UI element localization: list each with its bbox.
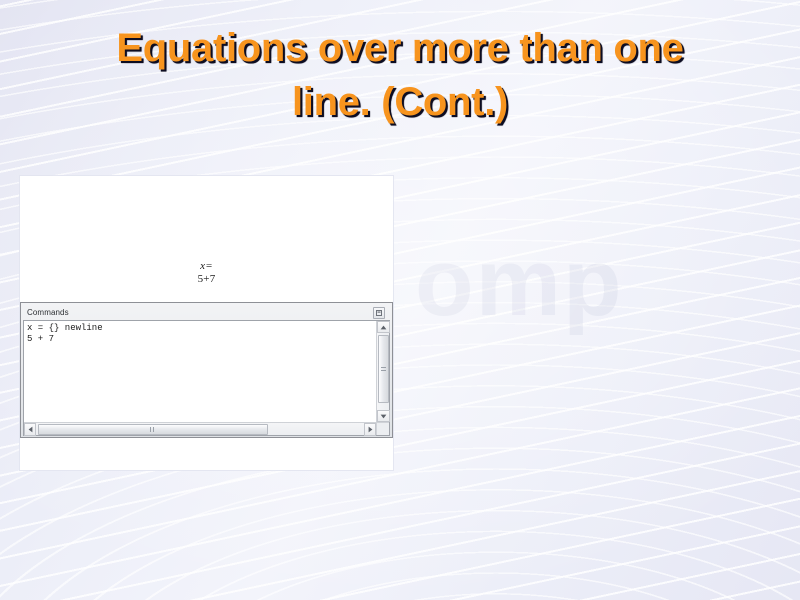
triangle-down-icon[interactable] [377, 410, 390, 422]
vertical-scrollbar-thumb[interactable] [378, 335, 389, 403]
page-title: Equations over more than one line. (Cont… [40, 22, 760, 129]
grip-lines-icon [381, 367, 386, 372]
embedded-screenshot: x= 5+7 Commands x = {} newline 5 + 7 [20, 176, 393, 470]
undock-icon[interactable] [373, 307, 385, 319]
horizontal-scrollbar[interactable] [24, 422, 376, 435]
triangle-left-icon[interactable] [24, 423, 36, 436]
triangle-right-icon[interactable] [364, 423, 376, 436]
formula-preview-line1: x= [20, 260, 393, 273]
commands-text-area[interactable]: x = {} newline 5 + 7 [23, 320, 390, 436]
commands-panel-titlebar: Commands [23, 305, 390, 320]
commands-input-text: x = {} newline 5 + 7 [27, 323, 375, 345]
formula-preview-line2: 5+7 [20, 273, 393, 286]
commands-panel: Commands x = {} newline 5 + 7 [20, 302, 393, 438]
formula-preview: x= 5+7 [20, 260, 393, 286]
slide: omp Equations over more than one line. (… [0, 0, 800, 600]
scrollbar-corner [376, 422, 389, 435]
background-watermark: omp [415, 228, 765, 338]
commands-panel-title: Commands [25, 308, 69, 317]
triangle-up-icon[interactable] [377, 321, 390, 333]
horizontal-scrollbar-thumb[interactable] [38, 424, 268, 435]
grip-lines-icon [150, 427, 155, 432]
vertical-scrollbar[interactable] [376, 321, 389, 422]
